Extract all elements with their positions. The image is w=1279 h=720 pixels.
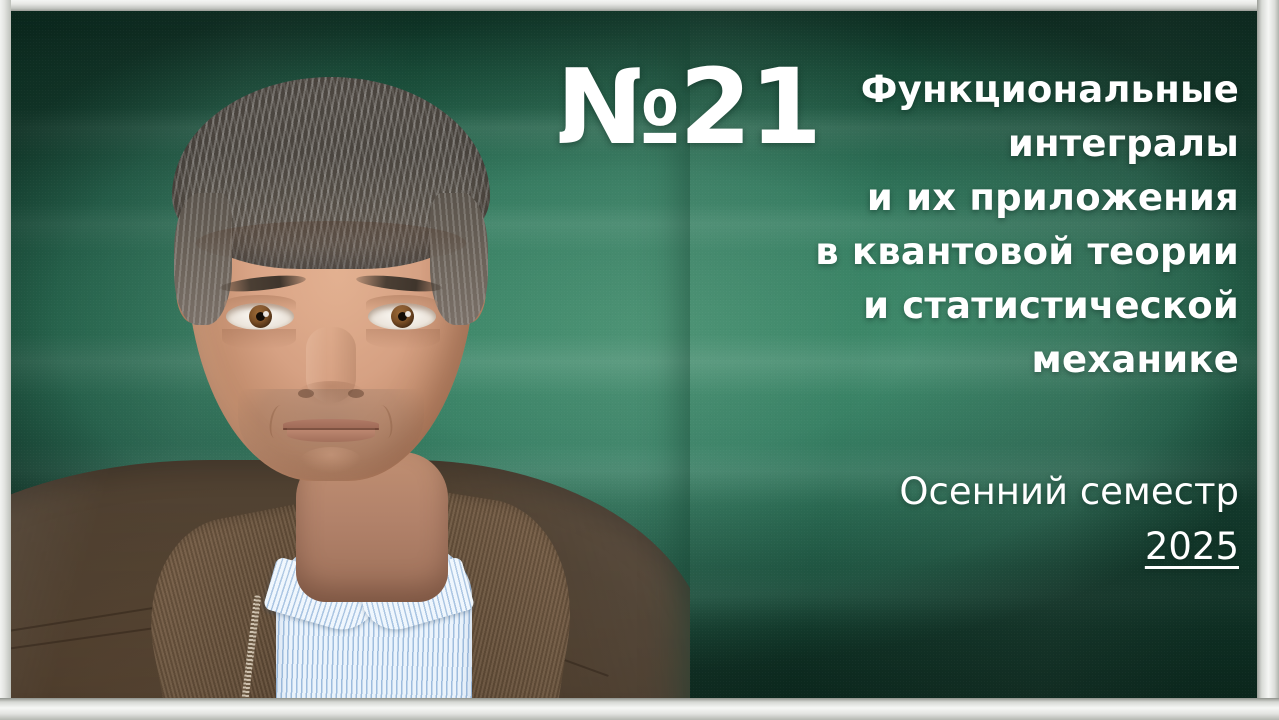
title-line: и их приложения — [809, 171, 1239, 225]
lecture-title-slide: №21 Функциональные интегралы и их прилож… — [0, 0, 1279, 720]
board-frame-bottom — [0, 698, 1279, 720]
title-line: интегралы — [809, 117, 1239, 171]
board-frame-top — [0, 0, 1279, 11]
title-line: и статистической — [809, 279, 1239, 333]
lecture-title: Функциональные интегралы и их приложения… — [809, 63, 1239, 387]
title-line: механике — [809, 333, 1239, 387]
title-line: в квантовой теории — [809, 225, 1239, 279]
lecture-number: №21 — [520, 55, 820, 159]
board-frame-right — [1257, 0, 1279, 720]
board-frame-left — [0, 0, 11, 720]
semester-year: 2025 — [769, 519, 1239, 574]
title-line: Функциональные — [809, 63, 1239, 117]
semester-block: Осенний семестр 2025 — [769, 464, 1239, 574]
semester-label: Осенний семестр — [899, 470, 1239, 513]
